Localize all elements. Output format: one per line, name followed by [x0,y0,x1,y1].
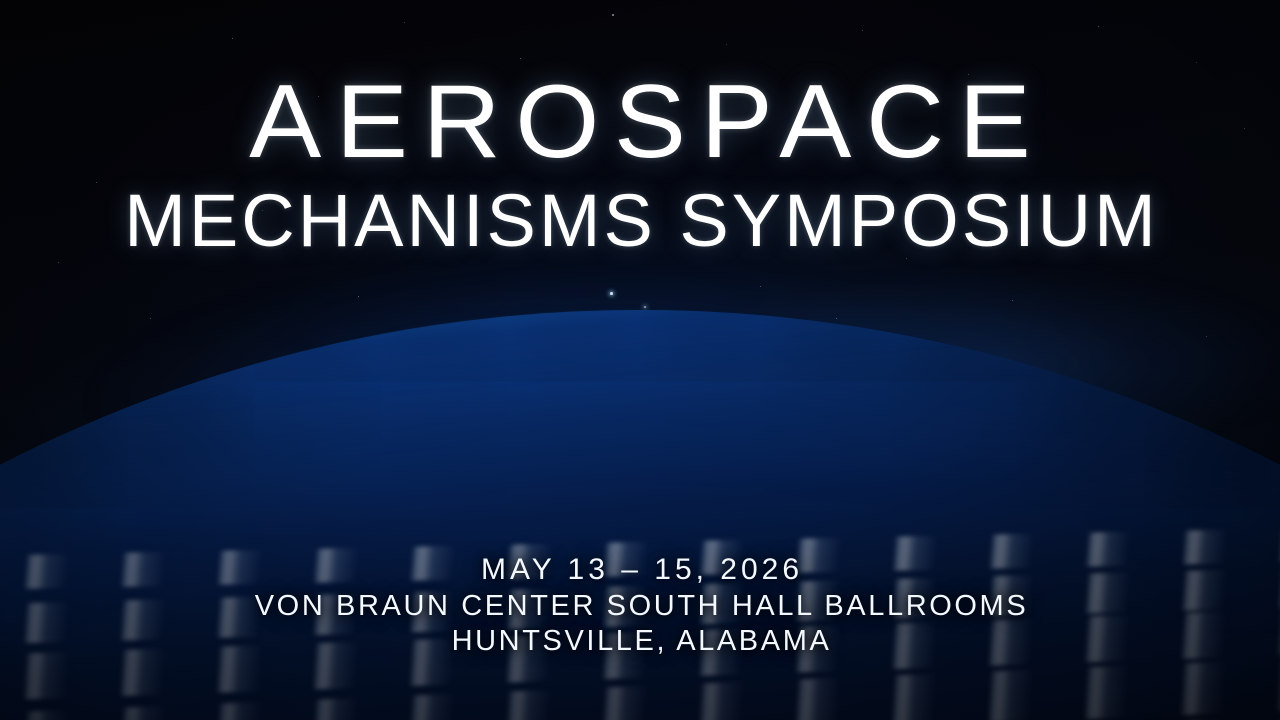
event-venue: VON BRAUN CENTER SOUTH HALL BALLROOMS [0,589,1280,624]
star-icon [1196,62,1197,63]
star-icon [1098,26,1099,27]
page-subtitle: MECHANISMS SYMPOSIUM [0,182,1280,260]
event-city: HUNTSVILLE, ALABAMA [0,624,1280,659]
star-icon [760,286,761,287]
event-details: MAY 13 – 15, 2026 VON BRAUN CENTER SOUTH… [0,552,1280,659]
star-icon [520,58,521,59]
page-title: AEROSPACE [0,70,1280,174]
event-dates: MAY 13 – 15, 2026 [0,552,1280,589]
star-icon [726,44,727,45]
symposium-poster: AEROSPACE MECHANISMS SYMPOSIUM MAY 13 – … [0,0,1280,720]
title-block: AEROSPACE MECHANISMS SYMPOSIUM [0,70,1280,260]
star-icon [404,22,405,23]
star-icon [58,262,59,263]
star-icon [1012,300,1013,301]
star-icon [232,38,233,39]
star-icon [862,30,863,31]
star-icon [612,14,614,16]
star-icon [358,296,359,297]
